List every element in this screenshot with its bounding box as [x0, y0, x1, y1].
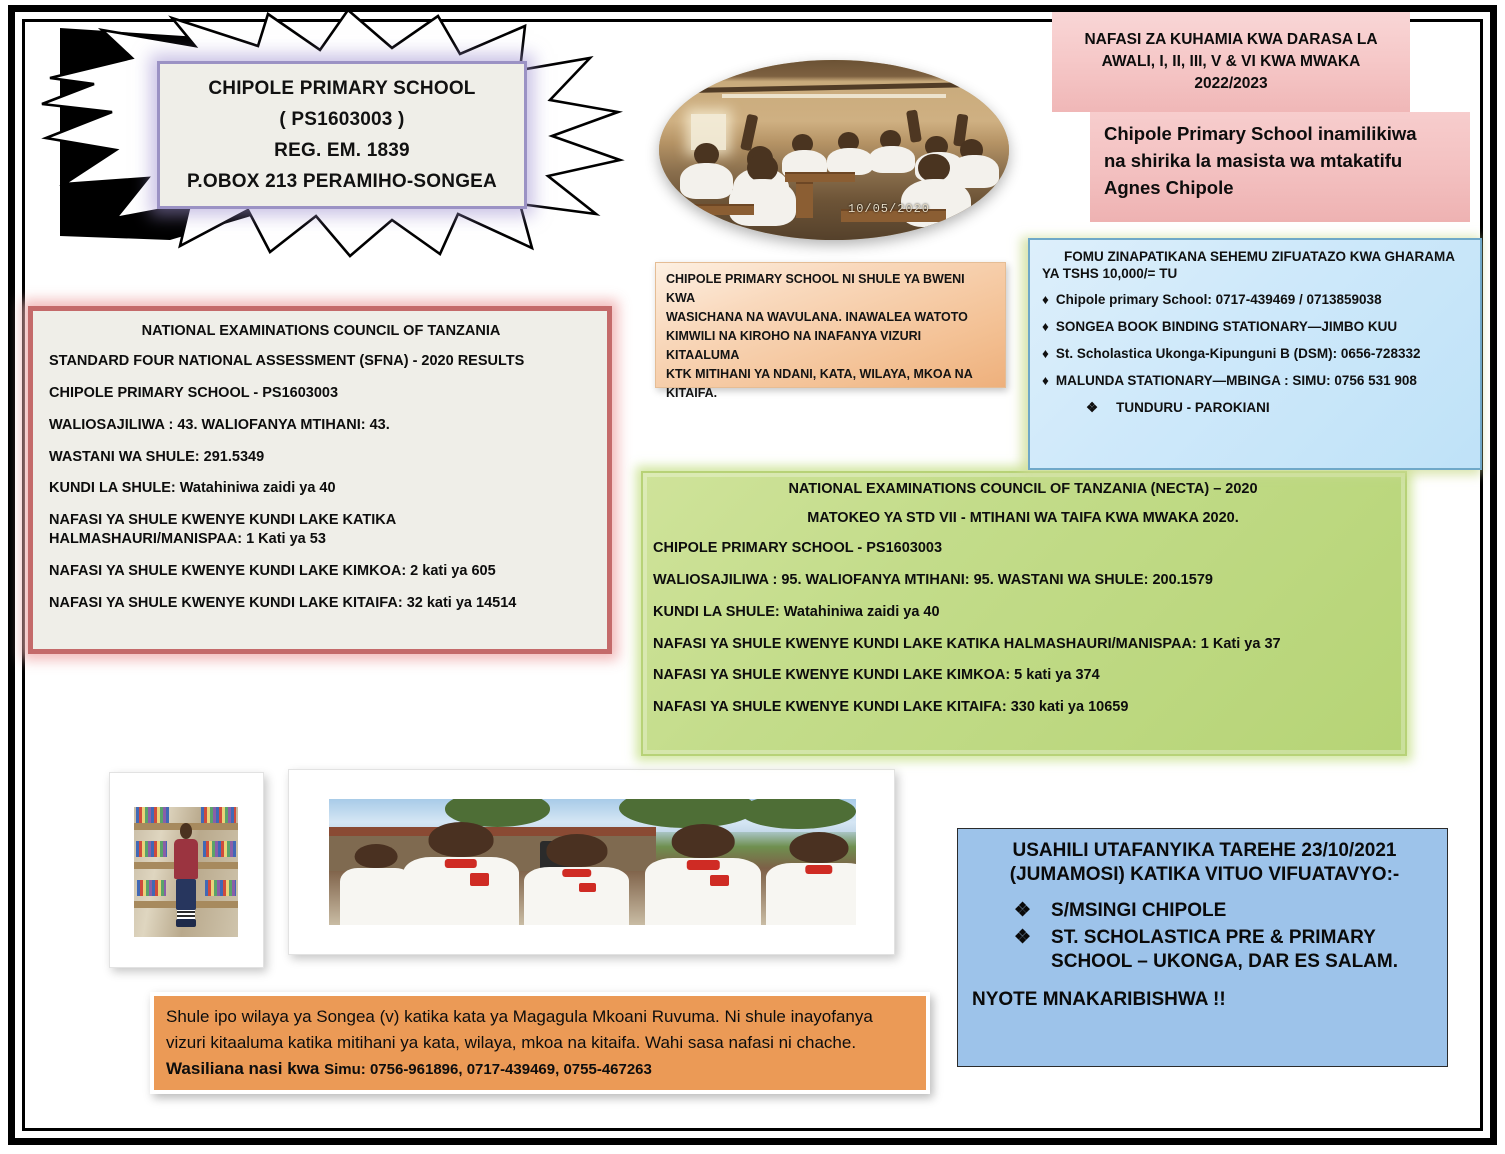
photo-date-stamp: 10/05/2020 [848, 202, 930, 216]
pupil-shorts [176, 879, 196, 910]
pupil-figure [766, 832, 856, 925]
ownership-line-3: Agnes Chipole [1104, 175, 1456, 202]
school-name: CHIPOLE PRIMARY SCHOOL [208, 78, 475, 100]
sfna-line: WASTANI WA SHULE: 291.5349 [49, 448, 593, 467]
forms-outlet-label: SONGEA BOOK BINDING STATIONARY—JIMBO KUU [1056, 319, 1397, 334]
pupil-pocket-rose [579, 883, 596, 892]
pupil-body [680, 163, 733, 199]
floret-bullet-icon: ❖ [1086, 400, 1098, 416]
necta-results-box: NATIONAL EXAMINATIONS COUNCIL OF TANZANI… [641, 471, 1407, 756]
floret-bullet-icon: ❖ [1014, 899, 1031, 923]
list-item: ♦ St. Scholastica Ukonga-Kipunguni B (DS… [1042, 346, 1470, 361]
classroom-photo: 10/05/2020 [659, 60, 1009, 240]
classroom-desk [796, 182, 814, 218]
ownership-line-2: na shirika la masista wa mtakatifu [1104, 148, 1456, 175]
interview-heading: USAHILI UTAFANYIKA TAREHE 23/10/2021 (JU… [972, 839, 1437, 888]
pupil-library-photo [109, 772, 264, 968]
diamond-bullet-icon: ♦ [1042, 346, 1049, 361]
sfna-line: NAFASI YA SHULE KWENYE KUNDI LAKE KIMKOA… [49, 562, 593, 581]
pupil-bowtie [687, 860, 719, 869]
sfna-line: STANDARD FOUR NATIONAL ASSESSMENT (SFNA)… [49, 352, 593, 371]
forms-outlet-list: ♦ Chipole primary School: 0717-439469 / … [1042, 292, 1470, 388]
classroom-desk [785, 172, 855, 183]
footer-location-text: Shule ipo wilaya ya Songea (v) katika ka… [166, 1007, 873, 1052]
sfna-line: NAFASI YA SHULE KWENYE KUNDI LAKE KATIKA… [49, 511, 593, 549]
pupil-head [428, 822, 493, 857]
pupil-library-image [134, 807, 238, 937]
forms-outlet-label: St. Scholastica Ukonga-Kipunguni B (DSM)… [1056, 346, 1421, 361]
location-contact-box: Shule ipo wilaya ya Songea (v) katika ka… [150, 992, 930, 1094]
classroom-light-tube [722, 94, 946, 98]
necta-line: CHIPOLE PRIMARY SCHOOL - PS1603003 [653, 539, 1393, 558]
pupil-body [729, 179, 796, 226]
venue-label: ST. SCHOLASTICA PRE & PRIMARYSCHOOL – UK… [1051, 926, 1398, 975]
pupil-shoes [176, 919, 197, 926]
starburst-header: CHIPOLE PRIMARY SCHOOL ( PS1603003 ) REG… [20, 8, 630, 258]
interview-closing: NYOTE MNAKARIBISHWA !! [972, 989, 1437, 1011]
forms-availability-box: FOMU ZINAPATIKANA SEHEMU ZIFUATAZO KWA G… [1028, 238, 1482, 470]
banner-line-1: NAFASI ZA KUHAMIA KWA DARASA LA [1084, 31, 1377, 49]
description-line-5: KITAIFA. [666, 384, 996, 403]
floret-bullet-icon: ❖ [1014, 926, 1031, 975]
sfna-line: KUNDI LA SHULE: Watahiniwa zaidi ya 40 [49, 479, 593, 498]
forms-outlet-last: ❖ TUNDURU - PAROKIANI [1042, 400, 1470, 416]
interview-heading-line-1: USAHILI UTAFANYIKA TAREHE 23/10/2021 [1013, 840, 1397, 861]
pupil-figure [403, 822, 519, 925]
pupil-figure [171, 823, 200, 927]
pupil-head [672, 824, 735, 858]
poster-canvas: CHIPOLE PRIMARY SCHOOL ( PS1603003 ) REG… [0, 0, 1505, 1154]
forms-outlet-label: TUNDURU - PAROKIANI [1116, 400, 1270, 416]
interview-venue-list: ❖ S/MSINGI CHIPOLE ❖ ST. SCHOLASTICA PRE… [972, 899, 1437, 975]
list-item: ♦ Chipole primary School: 0717-439469 / … [1042, 292, 1470, 307]
diamond-bullet-icon: ♦ [1042, 292, 1049, 307]
pupil-socks [177, 910, 196, 919]
pupils-group-photo [288, 769, 895, 955]
necta-line: NAFASI YA SHULE KWENYE KUNDI LAKE KATIKA… [653, 635, 1393, 654]
pupil-head [355, 844, 398, 869]
description-line-3: KIMWILI NA KIROHO NA INAFANYA VIZURI KIT… [666, 327, 996, 365]
banner-line-2: AWALI, I, II, III, V & VI KWA MWAKA [1102, 53, 1361, 71]
school-address: P.OBOX 213 PERAMIHO-SONGEA [187, 171, 497, 193]
books-row [136, 807, 169, 823]
pupil-bowtie [805, 865, 832, 873]
forms-outlet-label: Chipole primary School: 0717-439469 / 07… [1056, 292, 1382, 307]
venue-label: S/MSINGI CHIPOLE [1051, 899, 1226, 923]
sfna-line: WALIOSAJILIWA : 43. WALIOFANYA MTIHANI: … [49, 416, 593, 435]
forms-header-line-2: YA TSHS 10,000/= TU [1042, 266, 1177, 281]
school-description-box: CHIPOLE PRIMARY SCHOOL NI SHULE YA BWENI… [655, 262, 1006, 388]
classroom-desk [670, 204, 754, 215]
necta-line: NAFASI YA SHULE KWENYE KUNDI LAKE KITAIF… [653, 698, 1393, 717]
footer-paragraph: Shule ipo wilaya ya Songea (v) katika ka… [166, 1004, 914, 1081]
banner-line-3: 2022/2023 [1194, 75, 1267, 93]
sfna-line: CHIPOLE PRIMARY SCHOOL - PS1603003 [49, 384, 593, 403]
pupil-body [869, 146, 915, 173]
list-item: ❖ ST. SCHOLASTICA PRE & PRIMARYSCHOOL – … [1014, 926, 1437, 975]
pupil-head [546, 834, 607, 867]
pupil-head [180, 823, 193, 840]
pupil-head [790, 832, 849, 864]
transfer-places-banner: NAFASI ZA KUHAMIA KWA DARASA LA AWALI, I… [1052, 12, 1410, 112]
diamond-bullet-icon: ♦ [1042, 319, 1049, 334]
pupil-pocket-rose [710, 875, 729, 886]
necta-title-1: NATIONAL EXAMINATIONS COUNCIL OF TANZANI… [653, 481, 1393, 497]
sfna-line: NAFASI YA SHULE KWENYE KUNDI LAKE KITAIF… [49, 594, 593, 613]
interview-heading-line-2: (JUMAMOSI) KATIKA VITUO VIFUATAVYO:- [1010, 864, 1399, 885]
list-item: ♦ SONGEA BOOK BINDING STATIONARY—JIMBO K… [1042, 319, 1470, 334]
pupils-group-image [329, 799, 856, 925]
books-row [205, 880, 236, 896]
school-code: ( PS1603003 ) [279, 109, 404, 131]
forms-header-line-1: FOMU ZINAPATIKANA SEHEMU ZIFUATAZO KWA G… [1042, 249, 1455, 264]
footer-contact-label: Wasiliana nasi kwa [166, 1059, 324, 1078]
necta-line: KUNDI LA SHULE: Watahiniwa zaidi ya 40 [653, 603, 1393, 622]
description-line-1: CHIPOLE PRIMARY SCHOOL NI SHULE YA BWENI… [666, 270, 996, 308]
pupil-pocket-rose [470, 873, 489, 885]
pupil-bowtie [562, 869, 592, 877]
ownership-box: Chipole Primary School inamilikiwa na sh… [1090, 112, 1470, 222]
sfna-results-box: NATIONAL EXAMINATIONS COUNCIL OF TANZANI… [28, 306, 612, 654]
books-row [136, 841, 167, 857]
interview-info-box: USAHILI UTAFANYIKA TAREHE 23/10/2021 (JU… [957, 828, 1448, 1067]
necta-title-2: MATOKEO YA STD VII - MTIHANI WA TAIFA KW… [653, 510, 1393, 526]
necta-line: NAFASI YA SHULE KWENYE KUNDI LAKE KIMKOA… [653, 666, 1393, 685]
sfna-title: NATIONAL EXAMINATIONS COUNCIL OF TANZANI… [49, 323, 593, 339]
necta-line: WALIOSAJILIWA : 95. WALIOFANYA MTIHANI: … [653, 571, 1393, 590]
list-item: ♦ MALUNDA STATIONARY—MBINGA : SIMU: 0756… [1042, 373, 1470, 388]
forms-header: FOMU ZINAPATIKANA SEHEMU ZIFUATAZO KWA G… [1042, 248, 1470, 283]
books-row [203, 841, 236, 857]
books-row [137, 880, 166, 896]
school-reg: REG. EM. 1839 [274, 140, 410, 162]
forms-outlet-label: MALUNDA STATIONARY—MBINGA : SIMU: 0756 5… [1056, 373, 1417, 388]
footer-phone-numbers: Simu: 0756-961896, 0717-439469, 0755-467… [324, 1061, 652, 1078]
books-row [201, 807, 236, 823]
list-item: ❖ S/MSINGI CHIPOLE [1014, 899, 1437, 923]
pupil-figure [645, 824, 761, 925]
school-title-card: CHIPOLE PRIMARY SCHOOL ( PS1603003 ) REG… [157, 61, 527, 209]
description-line-2: WASICHANA NA WAVULANA. INAWALEA WATOTO [666, 308, 996, 327]
pupil-bowtie [445, 859, 477, 868]
description-line-4: KTK MITIHANI YA NDANI, KATA, WILAYA, MKO… [666, 365, 996, 384]
diamond-bullet-icon: ♦ [1042, 373, 1049, 388]
pupil-figure [524, 834, 629, 925]
pupil-shirt [174, 839, 198, 879]
ownership-line-1: Chipole Primary School inamilikiwa [1104, 121, 1456, 148]
